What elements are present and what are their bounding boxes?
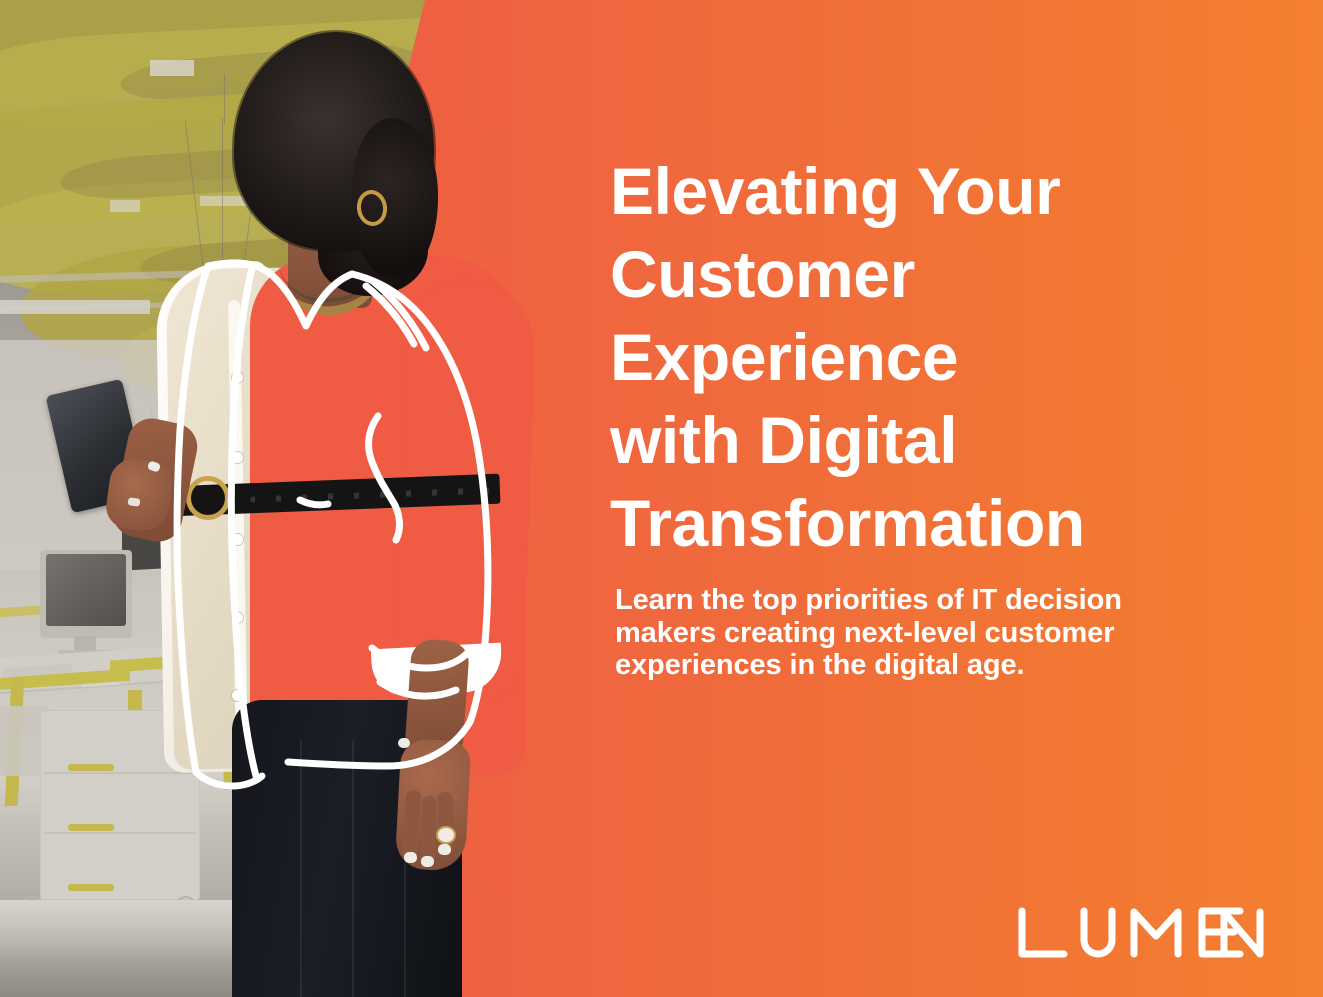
lumen-logo: ®	[1016, 906, 1274, 962]
skirt-fold	[300, 740, 302, 997]
subhead-line-2: makers creating next-level customer	[615, 617, 1225, 650]
ring	[128, 497, 141, 507]
fingernail	[421, 856, 434, 867]
person-figure	[0, 0, 660, 997]
ebook-cover: Elevating Your Customer Experience with …	[0, 0, 1323, 997]
ring	[438, 828, 454, 842]
page-subtitle: Learn the top priorities of IT decision …	[615, 584, 1225, 682]
headline-line-2: Customer	[610, 233, 1300, 316]
lumen-wordmark-icon	[1016, 906, 1274, 962]
blouse-button	[232, 612, 243, 623]
blouse-button	[232, 690, 243, 701]
blouse-button	[232, 452, 243, 463]
fingernail	[438, 844, 451, 855]
fingernail	[404, 852, 417, 863]
page-title: Elevating Your Customer Experience with …	[610, 150, 1300, 565]
fingernail	[398, 738, 410, 748]
headline-line-1: Elevating Your	[610, 150, 1300, 233]
subhead-line-1: Learn the top priorities of IT decision	[615, 584, 1225, 617]
skirt-fold	[352, 740, 354, 997]
blouse-button	[232, 372, 243, 383]
headline-line-5: Transformation	[610, 482, 1300, 565]
blouse-button	[232, 534, 243, 545]
finger	[420, 796, 437, 864]
subhead-line-3: experiences in the digital age.	[615, 649, 1225, 682]
headline-line-3: Experience	[610, 316, 1300, 399]
headline-line-4: with Digital	[610, 399, 1300, 482]
